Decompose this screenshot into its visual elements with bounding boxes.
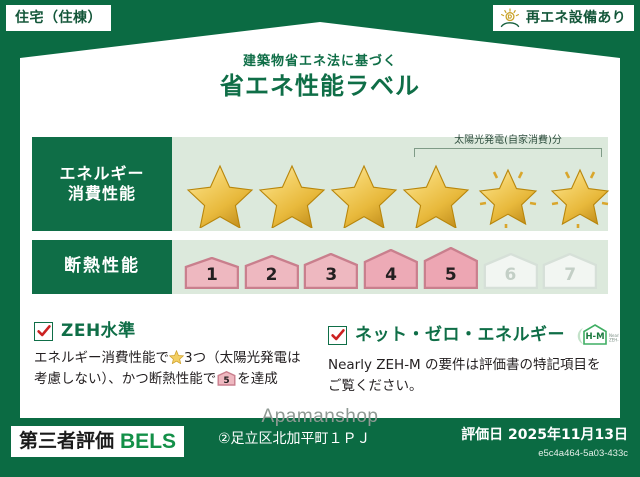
check-icon bbox=[330, 327, 346, 343]
insulation-level-value: 6 bbox=[505, 267, 517, 284]
solar-annotation: 太陽光発電(自家消費)分 bbox=[414, 136, 602, 157]
page-title: 建築物省エネ法に基づく 省エネ性能ラベル bbox=[0, 55, 640, 101]
net-zero-checkbox[interactable] bbox=[328, 326, 347, 345]
insulation-level-value: 4 bbox=[385, 267, 397, 284]
insulation-level-4: 4 bbox=[363, 249, 419, 289]
energy-performance-row: エネルギー 消費性能 太陽光発電(自家消費)分 bbox=[32, 137, 608, 231]
title-subtitle: 建築物省エネ法に基づく bbox=[0, 55, 640, 69]
insulation-label-text: 断熱性能 bbox=[64, 256, 140, 277]
insulation-level-7: 7 bbox=[542, 253, 598, 289]
zeh-checkbox[interactable] bbox=[34, 322, 53, 341]
insulation-level-value: 7 bbox=[564, 267, 576, 284]
star-filled bbox=[400, 162, 472, 228]
solar-bracket bbox=[414, 148, 602, 157]
title-main: 省エネ性能ラベル bbox=[0, 72, 640, 101]
insulation-performance-row: 断熱性能 1 2 bbox=[32, 240, 608, 294]
bels-badge: 第三者評価 BELS bbox=[11, 426, 184, 457]
svg-text:5: 5 bbox=[224, 376, 230, 386]
energy-label-line1: エネルギー bbox=[59, 164, 144, 184]
net-zero-criteria-block: ネット・ゼロ・エネルギー H-M Nearly ZEH-M Nearly ZEH… bbox=[328, 322, 608, 397]
net-zero-criteria-header: ネット・ゼロ・エネルギー H-M Nearly ZEH-M bbox=[328, 322, 608, 348]
inline-star-icon bbox=[169, 350, 184, 364]
insulation-level-value: 1 bbox=[206, 267, 218, 284]
zeh-m-logo-icon: H-M Nearly ZEH-M bbox=[573, 322, 619, 348]
insulation-level-3: 3 bbox=[303, 253, 359, 289]
insulation-level-1: 1 bbox=[184, 257, 240, 289]
building-type-label: 住宅（住棟） bbox=[15, 11, 102, 25]
net-zero-criteria-text: Nearly ZEH-M の要件は評価書の特記項目をご覧ください。 bbox=[328, 355, 608, 397]
check-icon bbox=[36, 323, 52, 339]
insulation-level-value: 2 bbox=[266, 267, 278, 284]
evaluation-date: 評価日 2025年11月13日 bbox=[461, 428, 628, 442]
evaluation-id: e5c4a464-5a03-433c bbox=[538, 449, 628, 459]
zeh-criteria-text: エネルギー消費性能で 3つ（太陽光発電は考慮しない）、かつ断熱性能で 5 を達成 bbox=[34, 348, 306, 390]
star-filled-solar bbox=[472, 162, 544, 228]
insulation-scale-body: 1 2 3 bbox=[172, 240, 608, 294]
footer-bar: 第三者評価 BELS ②足立区北加平町１ＰＪ 評価日 2025年11月13日 e… bbox=[0, 418, 640, 477]
energy-performance-label: エネルギー 消費性能 bbox=[32, 137, 172, 231]
star-filled bbox=[256, 162, 328, 228]
zeh-text-part3: を達成 bbox=[237, 371, 278, 387]
zeh-criteria-block: ZEH水準 エネルギー消費性能で 3つ（太陽光発電は考慮しない）、かつ断熱性能で… bbox=[34, 322, 306, 390]
star-filled bbox=[328, 162, 400, 228]
bels-jp-label: 第三者評価 bbox=[19, 432, 114, 451]
svg-text:ZEH-M: ZEH-M bbox=[609, 337, 619, 342]
insulation-level-6: 6 bbox=[483, 253, 539, 289]
project-name: ②足立区北加平町１ＰＪ bbox=[218, 432, 371, 446]
net-zero-criteria-title: ネット・ゼロ・エネルギー bbox=[355, 327, 565, 344]
insulation-level-value: 5 bbox=[445, 267, 457, 284]
zeh-text-stars: 3つ（太陽光発電 bbox=[184, 350, 287, 366]
insulation-level-2: 2 bbox=[244, 255, 300, 289]
insulation-level-value: 3 bbox=[325, 267, 337, 284]
zeh-criteria-title: ZEH水準 bbox=[61, 323, 136, 340]
renewable-equipment-badge: 再エネ設備あり bbox=[493, 5, 634, 31]
star-filled bbox=[184, 162, 256, 228]
inline-house-icon: 5 bbox=[217, 371, 236, 386]
energy-rating-body: 太陽光発電(自家消費)分 bbox=[172, 137, 608, 231]
star-rating bbox=[184, 163, 600, 227]
bels-en-label: BELS bbox=[120, 431, 176, 452]
energy-label-line2: 消費性能 bbox=[68, 184, 136, 204]
renewable-label: 再エネ設備あり bbox=[526, 11, 626, 25]
solar-annotation-label: 太陽光発電(自家消費)分 bbox=[414, 136, 602, 146]
zeh-text-part1: エネルギー消費性能で bbox=[34, 350, 169, 366]
building-type-badge: 住宅（住棟） bbox=[6, 5, 111, 31]
energy-performance-label: 住宅（住棟） 再エネ設備あり 建築物省エネ法に基づく 省エネ性能ラベル bbox=[0, 0, 640, 477]
zeh-criteria-header: ZEH水準 bbox=[34, 322, 306, 341]
insulation-level-5: 5 bbox=[423, 247, 479, 289]
insulation-scale: 1 2 3 bbox=[184, 245, 598, 289]
insulation-performance-label: 断熱性能 bbox=[32, 240, 172, 294]
sun-icon bbox=[499, 8, 521, 28]
svg-text:H-M: H-M bbox=[585, 332, 604, 342]
star-filled-solar bbox=[544, 162, 616, 228]
